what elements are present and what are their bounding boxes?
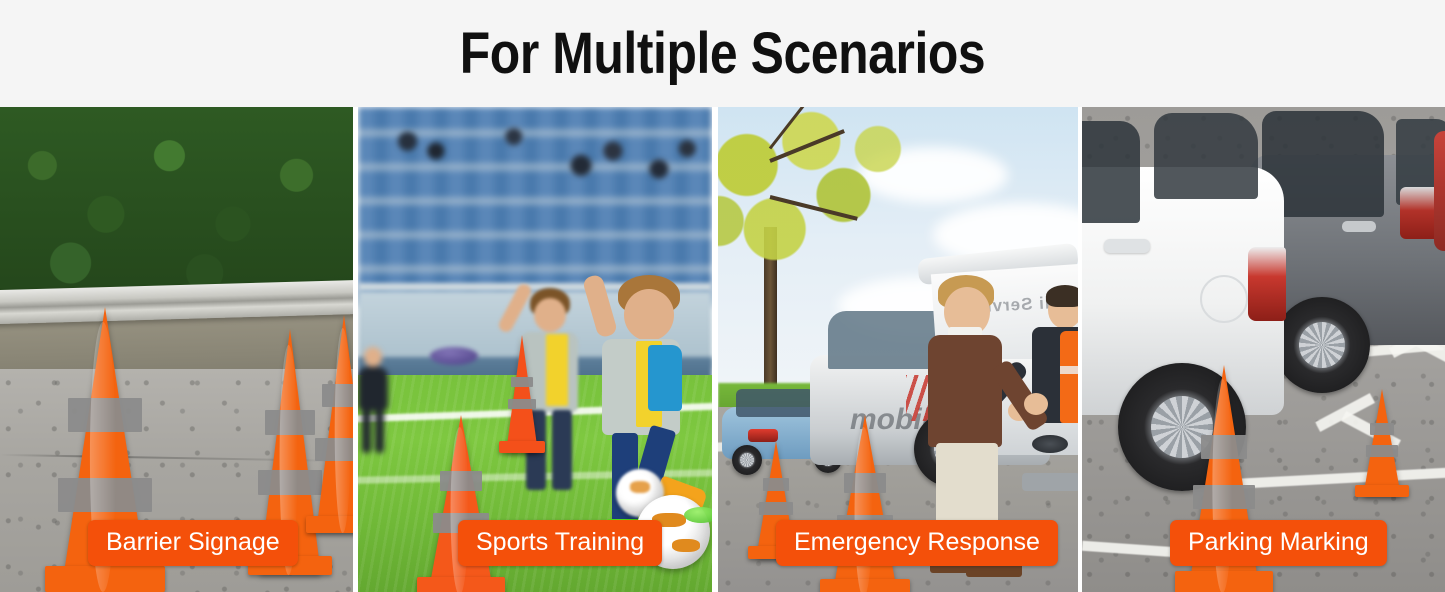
door-handle	[1104, 239, 1150, 253]
scenario-panel-sports-training[interactable]: Sports Training	[358, 107, 712, 592]
scenario-caption-badge: Parking Marking	[1170, 520, 1387, 566]
scenario-panel-strip: Barrier Signage	[0, 107, 1445, 592]
scenario-panel-barrier-signage[interactable]: Barrier Signage	[0, 107, 353, 592]
fuel-cap	[1200, 275, 1248, 323]
hi-vis-vest	[1060, 331, 1078, 423]
product-feature-banner: For Multiple Scenarios	[0, 0, 1445, 592]
training-marker-disc	[430, 347, 478, 365]
banner-header: For Multiple Scenarios	[0, 0, 1445, 107]
traffic-cone	[297, 293, 353, 533]
scenario-panel-emergency-response[interactable]: Audi Service mobil	[718, 107, 1078, 592]
door-handle	[1342, 221, 1376, 232]
scenario-caption-badge: Barrier Signage	[88, 520, 298, 566]
scenario-caption-badge: Sports Training	[458, 520, 662, 566]
training-marker-disc	[684, 507, 712, 523]
roadside-worker	[1030, 289, 1078, 489]
player-distant	[358, 347, 398, 467]
page-title: For Multiple Scenarios	[460, 25, 985, 83]
hedge-background	[0, 107, 353, 302]
scenario-panel-parking-marking[interactable]: Parking Marking	[1082, 107, 1445, 592]
traffic-cone	[1350, 379, 1414, 497]
crowd-spectators	[358, 115, 712, 235]
scenario-caption-badge: Emergency Response	[776, 520, 1058, 566]
red-car-edge	[1434, 131, 1445, 251]
